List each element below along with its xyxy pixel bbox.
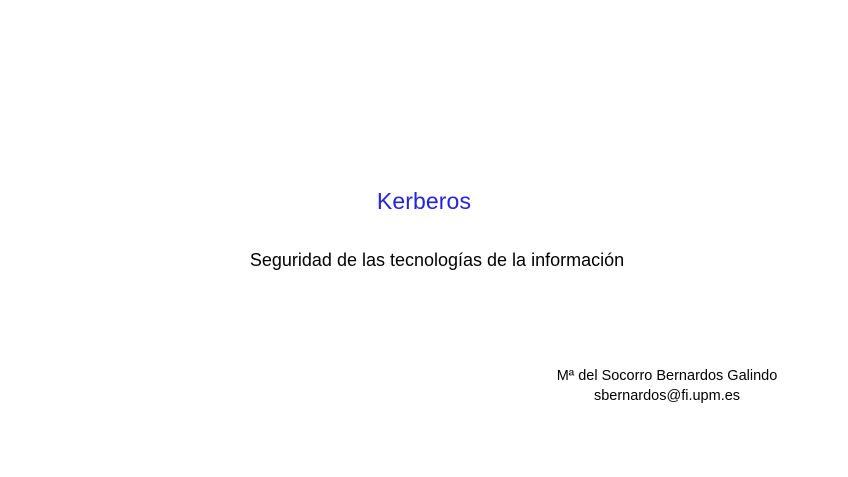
title-block: Kerberos bbox=[0, 188, 848, 215]
presentation-slide: Kerberos Seguridad de las tecnologías de… bbox=[0, 0, 848, 477]
author-name: Mª del Socorro Bernardos Galindo bbox=[443, 367, 848, 387]
author-block: Mª del Socorro Bernardos Galindo sbernar… bbox=[443, 367, 848, 406]
author-email: sbernardos@fi.upm.es bbox=[443, 387, 848, 407]
slide-subtitle: Seguridad de las tecnologías de la infor… bbox=[13, 248, 848, 272]
page-title: Kerberos bbox=[0, 188, 848, 215]
subtitle-block: Seguridad de las tecnologías de la infor… bbox=[13, 248, 848, 272]
